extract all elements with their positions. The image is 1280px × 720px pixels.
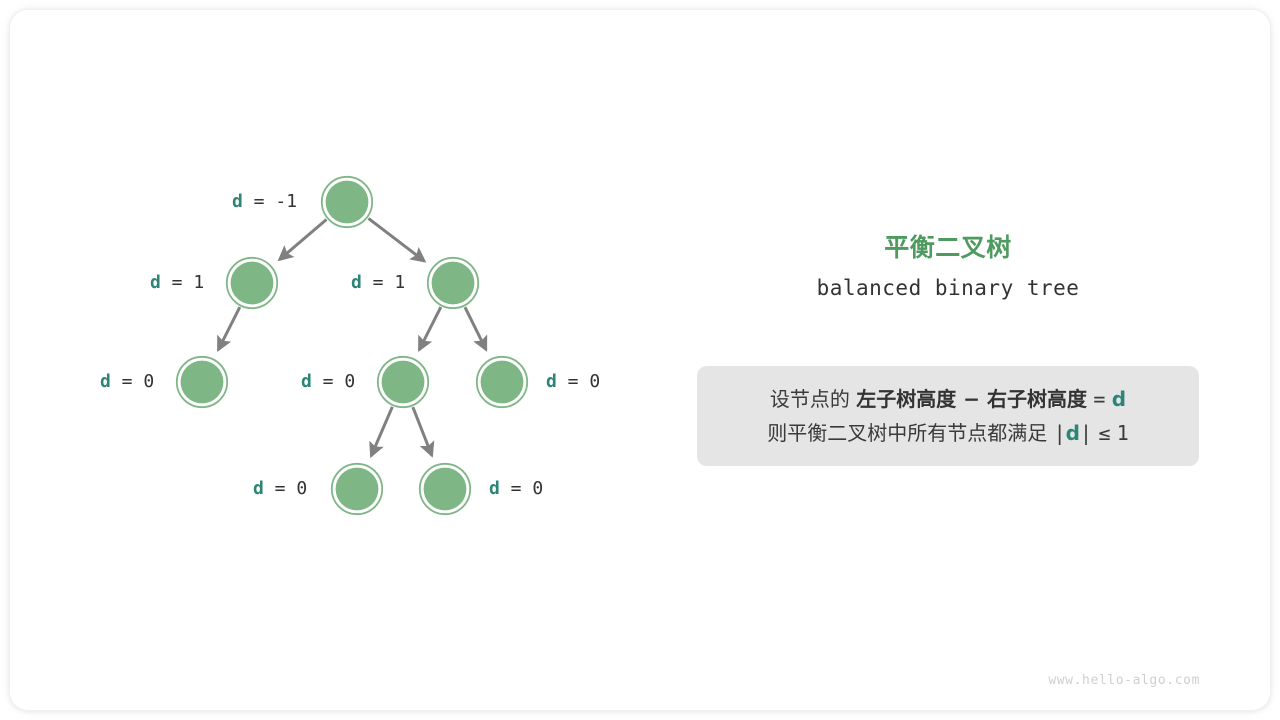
node-balance-value: = 0 — [312, 371, 355, 392]
tree-node — [428, 258, 478, 308]
tree-node — [227, 258, 277, 308]
tree-edge — [368, 218, 424, 261]
node-disc — [326, 181, 369, 224]
node-disc — [424, 468, 467, 511]
node-balance-value: = 1 — [362, 272, 405, 293]
node-balance-variable: d — [253, 478, 264, 499]
page-subtitle: balanced binary tree — [698, 276, 1198, 300]
node-balance-value: = 1 — [161, 272, 204, 293]
tree-nodes — [177, 177, 527, 514]
node-balance-variable: d — [150, 272, 161, 293]
definition-line2-value: 1 — [1117, 421, 1129, 445]
page-title: 平衡二叉树 — [698, 228, 1198, 264]
node-balance-label: d = 1 — [150, 274, 204, 292]
node-balance-value: = 0 — [264, 478, 307, 499]
node-balance-variable: d — [301, 371, 312, 392]
tree-edge — [218, 307, 240, 350]
tree-edge — [279, 220, 326, 260]
definition-line2-variable: d — [1066, 421, 1080, 445]
node-balance-variable: d — [351, 272, 362, 293]
node-balance-value: = 0 — [111, 371, 154, 392]
definition-line1-variable: d — [1112, 387, 1126, 411]
tree-node — [322, 177, 372, 227]
node-disc — [382, 361, 425, 404]
node-balance-label: d = 0 — [301, 373, 355, 391]
node-balance-label: d = 1 — [351, 274, 405, 292]
node-balance-label: d = -1 — [232, 193, 297, 211]
node-balance-label: d = 0 — [546, 373, 600, 391]
node-disc — [181, 361, 224, 404]
abs-bar-close: | — [1080, 421, 1092, 445]
node-balance-variable: d — [489, 478, 500, 499]
tree-node — [378, 357, 428, 407]
node-balance-value: = -1 — [243, 191, 297, 212]
abs-bar-open: | — [1054, 421, 1066, 445]
node-balance-label: d = 0 — [489, 480, 543, 498]
definition-line-2: 则平衡二叉树中所有节点都满足 |d| ≤ 1 — [697, 416, 1199, 450]
tree-edge — [419, 307, 441, 350]
tree-edge — [413, 407, 432, 455]
tree-edge — [465, 307, 486, 350]
node-balance-label: d = 0 — [100, 373, 154, 391]
node-balance-variable: d — [546, 371, 557, 392]
definition-callout-box: 设节点的 左子树高度 − 右子树高度 = d 则平衡二叉树中所有节点都满足 |d… — [697, 366, 1199, 466]
watermark-url: www.hello-algo.com — [860, 673, 1200, 688]
definition-line1-bold: 左子树高度 − 右子树高度 — [856, 387, 1087, 411]
binary-tree-graphic — [0, 0, 1280, 720]
node-disc — [336, 468, 379, 511]
tree-node — [332, 464, 382, 514]
node-balance-value: = 0 — [557, 371, 600, 392]
definition-line1-equals: = — [1093, 387, 1105, 411]
tree-edge — [371, 407, 392, 456]
node-balance-variable: d — [100, 371, 111, 392]
node-disc — [432, 262, 475, 305]
node-disc — [231, 262, 274, 305]
tree-node — [420, 464, 470, 514]
node-balance-variable: d — [232, 191, 243, 212]
node-balance-value: = 0 — [500, 478, 543, 499]
tree-node — [477, 357, 527, 407]
tree-node — [177, 357, 227, 407]
definition-line2-operator: ≤ — [1098, 421, 1110, 445]
definition-line1-prefix: 设节点的 — [770, 387, 850, 411]
node-balance-label: d = 0 — [253, 480, 307, 498]
definition-line2-prefix: 则平衡二叉树中所有节点都满足 — [767, 421, 1047, 445]
diagram-canvas: d = -1d = 1d = 1d = 0d = 0d = 0d = 0d = … — [0, 0, 1280, 720]
tree-edges — [218, 218, 486, 456]
node-disc — [481, 361, 524, 404]
definition-line-1: 设节点的 左子树高度 − 右子树高度 = d — [697, 382, 1199, 416]
